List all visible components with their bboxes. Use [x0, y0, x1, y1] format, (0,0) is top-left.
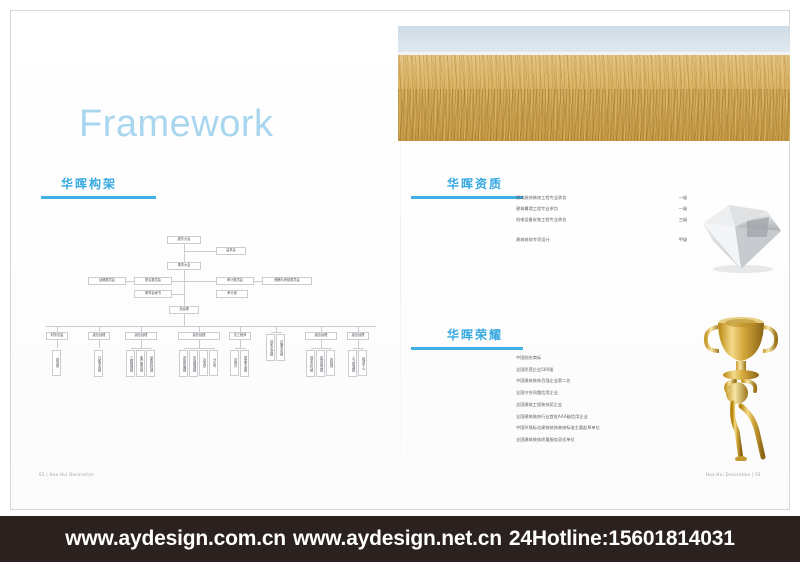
org-node-department: 办事处	[199, 350, 208, 376]
org-line	[353, 348, 364, 349]
org-node-department: 人力资源部	[348, 350, 357, 377]
org-line	[358, 340, 359, 348]
section-label-qualification: 华晖资质	[411, 175, 523, 192]
org-node-department: 客户服务部	[136, 350, 145, 377]
banner-hotline: 24Hotline:15601814031	[509, 527, 735, 551]
banner-site1[interactable]: www.aydesign.com.cn	[65, 527, 286, 551]
trophy-icon	[697, 311, 783, 461]
qualification-row: 机电设备安装工程专业承包三级	[516, 218, 696, 222]
contact-banner: www.aydesign.com.cn www.aydesign.net.cn …	[0, 516, 800, 562]
org-node-manager: 副总经理	[125, 332, 157, 340]
org-line	[311, 348, 332, 349]
org-node-nomination-committee: 提名委员会	[134, 277, 172, 285]
honor-item: 全国守合同重信用企业	[516, 391, 691, 395]
honor-item: 全国建筑装饰行业首批AAA级信用企业	[516, 415, 691, 419]
wheat-foreground-layer	[398, 89, 790, 141]
honor-item: 中国驰名商标	[516, 356, 691, 360]
qualification-name: 建筑装饰专项设计	[516, 238, 550, 242]
screenshot-root: Framework 华晖构架 华晖资质 华晖荣耀 股东大会 监事会 董事大会 战…	[0, 0, 800, 562]
org-node-department: 市场拓展部	[179, 350, 188, 377]
org-node-manager: 副总经理	[305, 332, 337, 340]
brochure-spread: Framework 华晖构架 华晖资质 华晖荣耀 股东大会 监事会 董事大会 战…	[10, 10, 790, 510]
org-line	[184, 251, 216, 252]
honor-item: 中国环境标志建筑装饰装修标准主要起草单位	[516, 426, 691, 430]
org-node-manager: 副总经理	[178, 332, 220, 340]
qualification-name: 建筑幕墙工程专业承包	[516, 207, 558, 211]
qualification-name: 机电设备安装工程专业承包	[516, 218, 566, 222]
honor-item: 全国建筑工程装饰奖企业	[516, 403, 691, 407]
honor-item: 全国建筑装饰质量服务双优单位	[516, 438, 691, 442]
qualification-name: 建筑装饰装修工程专业承包	[516, 196, 566, 200]
section-rule-honor	[411, 347, 523, 350]
org-node-department: 成本经营部	[316, 350, 325, 377]
page-title: Framework	[79, 103, 274, 146]
org-chart: 股东大会 监事会 董事大会 战略委员会 提名委员会 审计委员会 薪酬与考核委员会…	[33, 236, 393, 401]
org-line	[57, 340, 58, 348]
org-node-strategy-committee: 战略委员会	[88, 277, 126, 285]
org-node-audit-committee: 审计委员会	[216, 277, 254, 285]
page-footer-right: Hua Hui Decoration | 01	[706, 472, 761, 477]
org-node-department: 采购招标部	[146, 350, 155, 377]
org-line	[131, 348, 152, 349]
org-node-general-manager: 总经理	[169, 306, 199, 314]
org-node-supervisors: 监事会	[216, 247, 246, 255]
org-line	[235, 348, 246, 349]
org-line	[172, 281, 216, 282]
org-node-department: 培训中心	[358, 350, 367, 376]
org-node-shareholders: 股东大会	[167, 236, 201, 244]
section-header-qualification: 华晖资质	[411, 175, 523, 199]
org-node-department: 法律事务部	[276, 334, 285, 361]
org-line	[321, 340, 322, 348]
org-line	[199, 340, 200, 348]
qualification-list: 建筑装饰装修工程专业承包一级建筑幕墙工程专业承包一级机电设备安装工程专业承包三级…	[516, 196, 696, 249]
org-node-department: 投标部	[326, 350, 335, 376]
honor-item: 全国民营企业500强	[516, 368, 691, 372]
org-node-department: 财务部	[52, 350, 61, 376]
section-header-framework: 华晖构架	[41, 175, 156, 199]
org-node-department: 技术交流部	[266, 334, 275, 361]
org-line	[184, 270, 185, 310]
org-line	[141, 340, 142, 348]
org-node-department: 工程管理部	[126, 350, 135, 377]
org-bus-line	[46, 326, 376, 327]
section-label-honor: 华晖荣耀	[411, 326, 523, 343]
org-line	[184, 348, 215, 349]
page-footer-left: 01 | Hua Hui Decoration	[39, 472, 94, 477]
section-header-honor: 华晖荣耀	[411, 326, 523, 350]
org-line	[254, 281, 262, 282]
org-node-audit-department: 审计部	[216, 290, 248, 298]
honor-list: 中国驰名商标全国民营企业500强中国建筑装饰百强企业第二名全国守合同重信用企业全…	[516, 356, 691, 450]
section-rule-qualification	[411, 196, 523, 199]
honor-item: 中国建筑装饰百强企业第二名	[516, 379, 691, 383]
org-line	[240, 340, 241, 348]
org-node-manager: 总工程师	[229, 332, 251, 340]
qualification-row: 建筑幕墙工程专业承包一级	[516, 207, 696, 211]
org-node-remuneration-committee: 薪酬与考核委员会	[262, 277, 312, 285]
org-node-department: 总师办	[230, 350, 239, 376]
wheat-field-photo	[398, 26, 790, 141]
org-node-department: 质量安全部	[240, 350, 249, 377]
org-node-manager: 副总经理	[347, 332, 369, 340]
org-node-department: 分公司	[209, 350, 218, 376]
diamond-icon	[689, 197, 785, 275]
section-label-framework: 华晖构架	[41, 175, 156, 192]
org-node-board-secretary: 董事会秘书	[134, 290, 172, 298]
banner-site2[interactable]: www.aydesign.net.cn	[293, 527, 502, 551]
qualification-row: 建筑装饰专项设计甲级	[516, 238, 696, 242]
org-node-board: 董事大会	[167, 262, 201, 270]
org-line	[271, 332, 282, 333]
org-node-manager: 财务总监	[46, 332, 68, 340]
org-line	[184, 314, 185, 326]
org-node-department: 市场管理部	[189, 350, 198, 377]
org-line	[99, 340, 100, 348]
org-node-department: 行政事务部	[94, 350, 103, 377]
org-node-manager: 副总经理	[88, 332, 110, 340]
qualification-row: 建筑装饰装修工程专业承包一级	[516, 196, 696, 200]
org-line	[172, 294, 184, 295]
section-rule-framework	[41, 196, 156, 199]
org-node-department: 商务合约部	[306, 350, 315, 377]
org-line	[126, 281, 134, 282]
